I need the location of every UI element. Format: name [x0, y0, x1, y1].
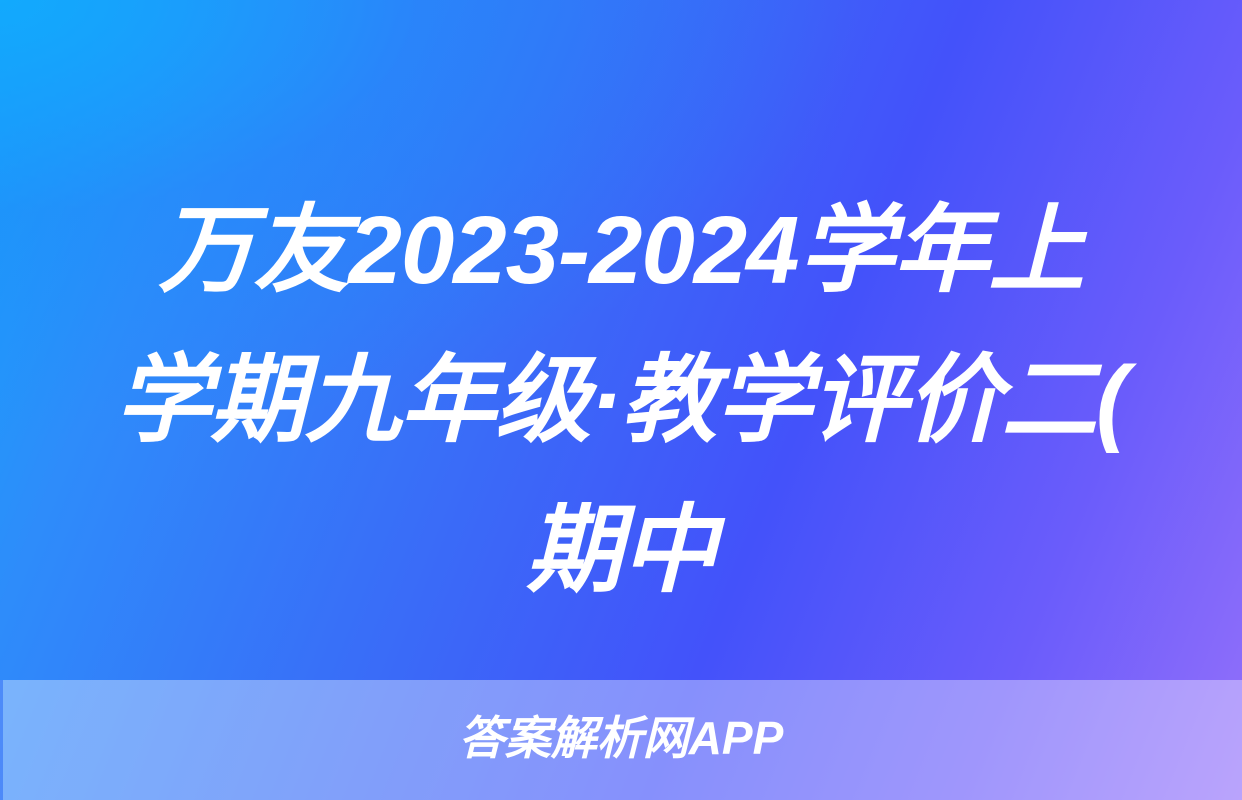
watermark: 答案解析网APP — [0, 706, 1242, 770]
title-line-3: 期中 — [70, 476, 1172, 626]
watermark-label: 答案解析网APP — [459, 706, 784, 770]
exam-cover-image: 万友2023-2024学年上 学期九年级·教学评价二( 期中 答案解析网APP — [0, 0, 1242, 800]
title-line-1: 万友2023-2024学年上 — [70, 176, 1172, 326]
title-line-2: 学期九年级·教学评价二( — [70, 326, 1172, 476]
page-title: 万友2023-2024学年上 学期九年级·教学评价二( 期中 — [0, 176, 1242, 626]
